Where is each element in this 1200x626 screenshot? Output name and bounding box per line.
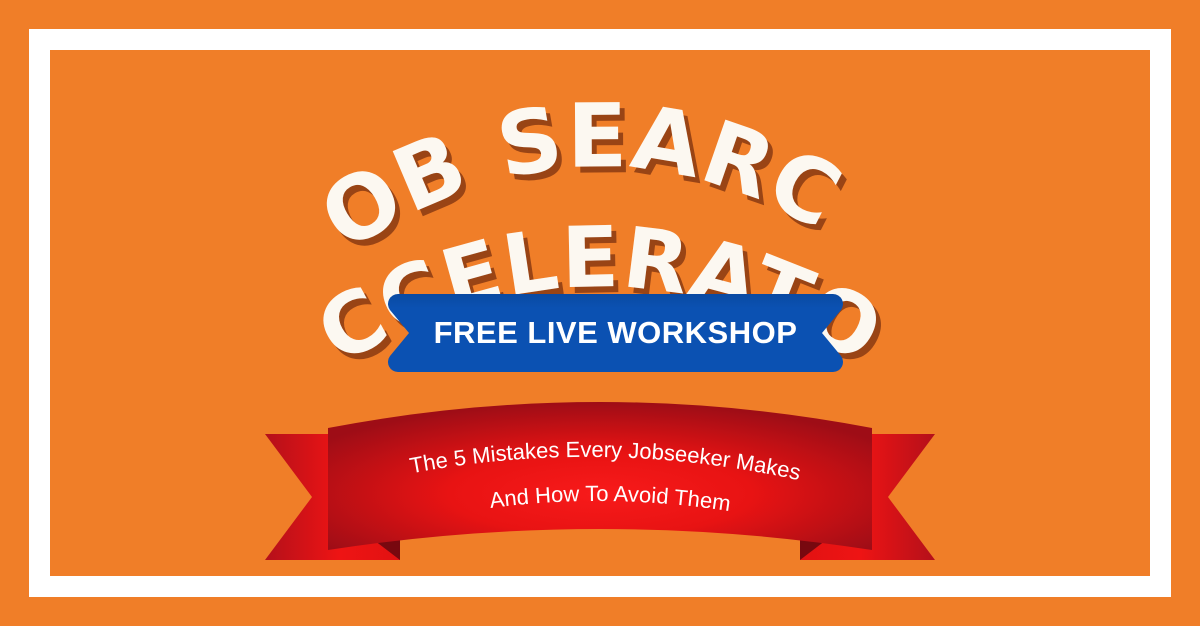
free-live-workshop-label: FREE LIVE WORKSHOP [388, 294, 843, 372]
free-live-workshop-banner[interactable]: FREE LIVE WORKSHOP [388, 294, 843, 372]
poster-canvas: JOB SEARCH JOB SEARCH ACCELERATOR ACCELE… [0, 0, 1200, 626]
subtitle-ribbon: The 5 Mistakes Every Jobseeker Makes And… [250, 400, 950, 580]
ribbon-shape: The 5 Mistakes Every Jobseeker Makes And… [250, 400, 950, 580]
headline-group: JOB SEARCH JOB SEARCH ACCELERATOR ACCELE… [0, 44, 1200, 304]
